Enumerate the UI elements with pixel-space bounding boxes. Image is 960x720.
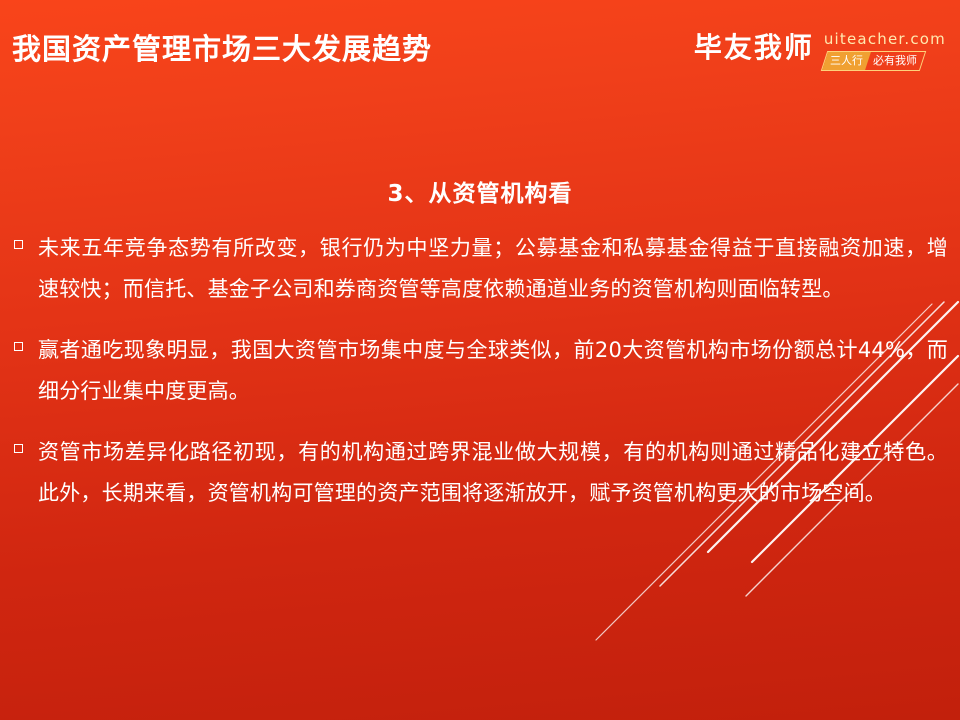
brand-tagline-right: 必有我师 bbox=[865, 52, 925, 70]
brand-domain: uiteacher.com bbox=[824, 30, 946, 48]
list-item: 资管市场差异化路径初现，有的机构通过跨界混业做大规模，有的机构则通过精品化建立特… bbox=[14, 432, 948, 514]
brand-tagline-right-text: 必有我师 bbox=[873, 52, 917, 70]
brand-logo-right: uiteacher.com 三人行 必有我师 bbox=[824, 26, 946, 71]
list-item-text: 资管市场差异化路径初现，有的机构通过跨界混业做大规模，有的机构则通过精品化建立特… bbox=[38, 432, 948, 514]
bullet-list: 未来五年竞争态势有所改变，银行仍为中坚力量；公募基金和私募基金得益于直接融资加速… bbox=[14, 228, 948, 534]
slide-canvas: 我国资产管理市场三大发展趋势 毕友我师 uiteacher.com 三人行 必有… bbox=[0, 0, 960, 720]
section-subtitle: 3、从资管机构看 bbox=[0, 174, 960, 208]
slide-header: 我国资产管理市场三大发展趋势 毕友我师 uiteacher.com 三人行 必有… bbox=[0, 0, 960, 96]
list-item-text: 未来五年竞争态势有所改变，银行仍为中坚力量；公募基金和私募基金得益于直接融资加速… bbox=[38, 228, 948, 310]
list-item-text: 赢者通吃现象明显，我国大资管市场集中度与全球类似，前20大资管机构市场份额总计4… bbox=[38, 330, 948, 412]
bullet-square-icon bbox=[14, 330, 38, 353]
bullet-square-icon bbox=[14, 228, 38, 251]
brand-tagline-banner: 三人行 必有我师 bbox=[821, 51, 926, 71]
brand-tagline-left-text: 三人行 bbox=[830, 52, 863, 70]
brand-tagline-left: 三人行 bbox=[822, 52, 871, 70]
bullet-square-icon bbox=[14, 432, 38, 455]
list-item: 未来五年竞争态势有所改变，银行仍为中坚力量；公募基金和私募基金得益于直接融资加速… bbox=[14, 228, 948, 310]
page-title: 我国资产管理市场三大发展趋势 bbox=[12, 26, 432, 68]
list-item: 赢者通吃现象明显，我国大资管市场集中度与全球类似，前20大资管机构市场份额总计4… bbox=[14, 330, 948, 412]
brand-logo: 毕友我师 uiteacher.com 三人行 必有我师 bbox=[694, 26, 946, 82]
brand-name-cn: 毕友我师 bbox=[694, 26, 814, 70]
